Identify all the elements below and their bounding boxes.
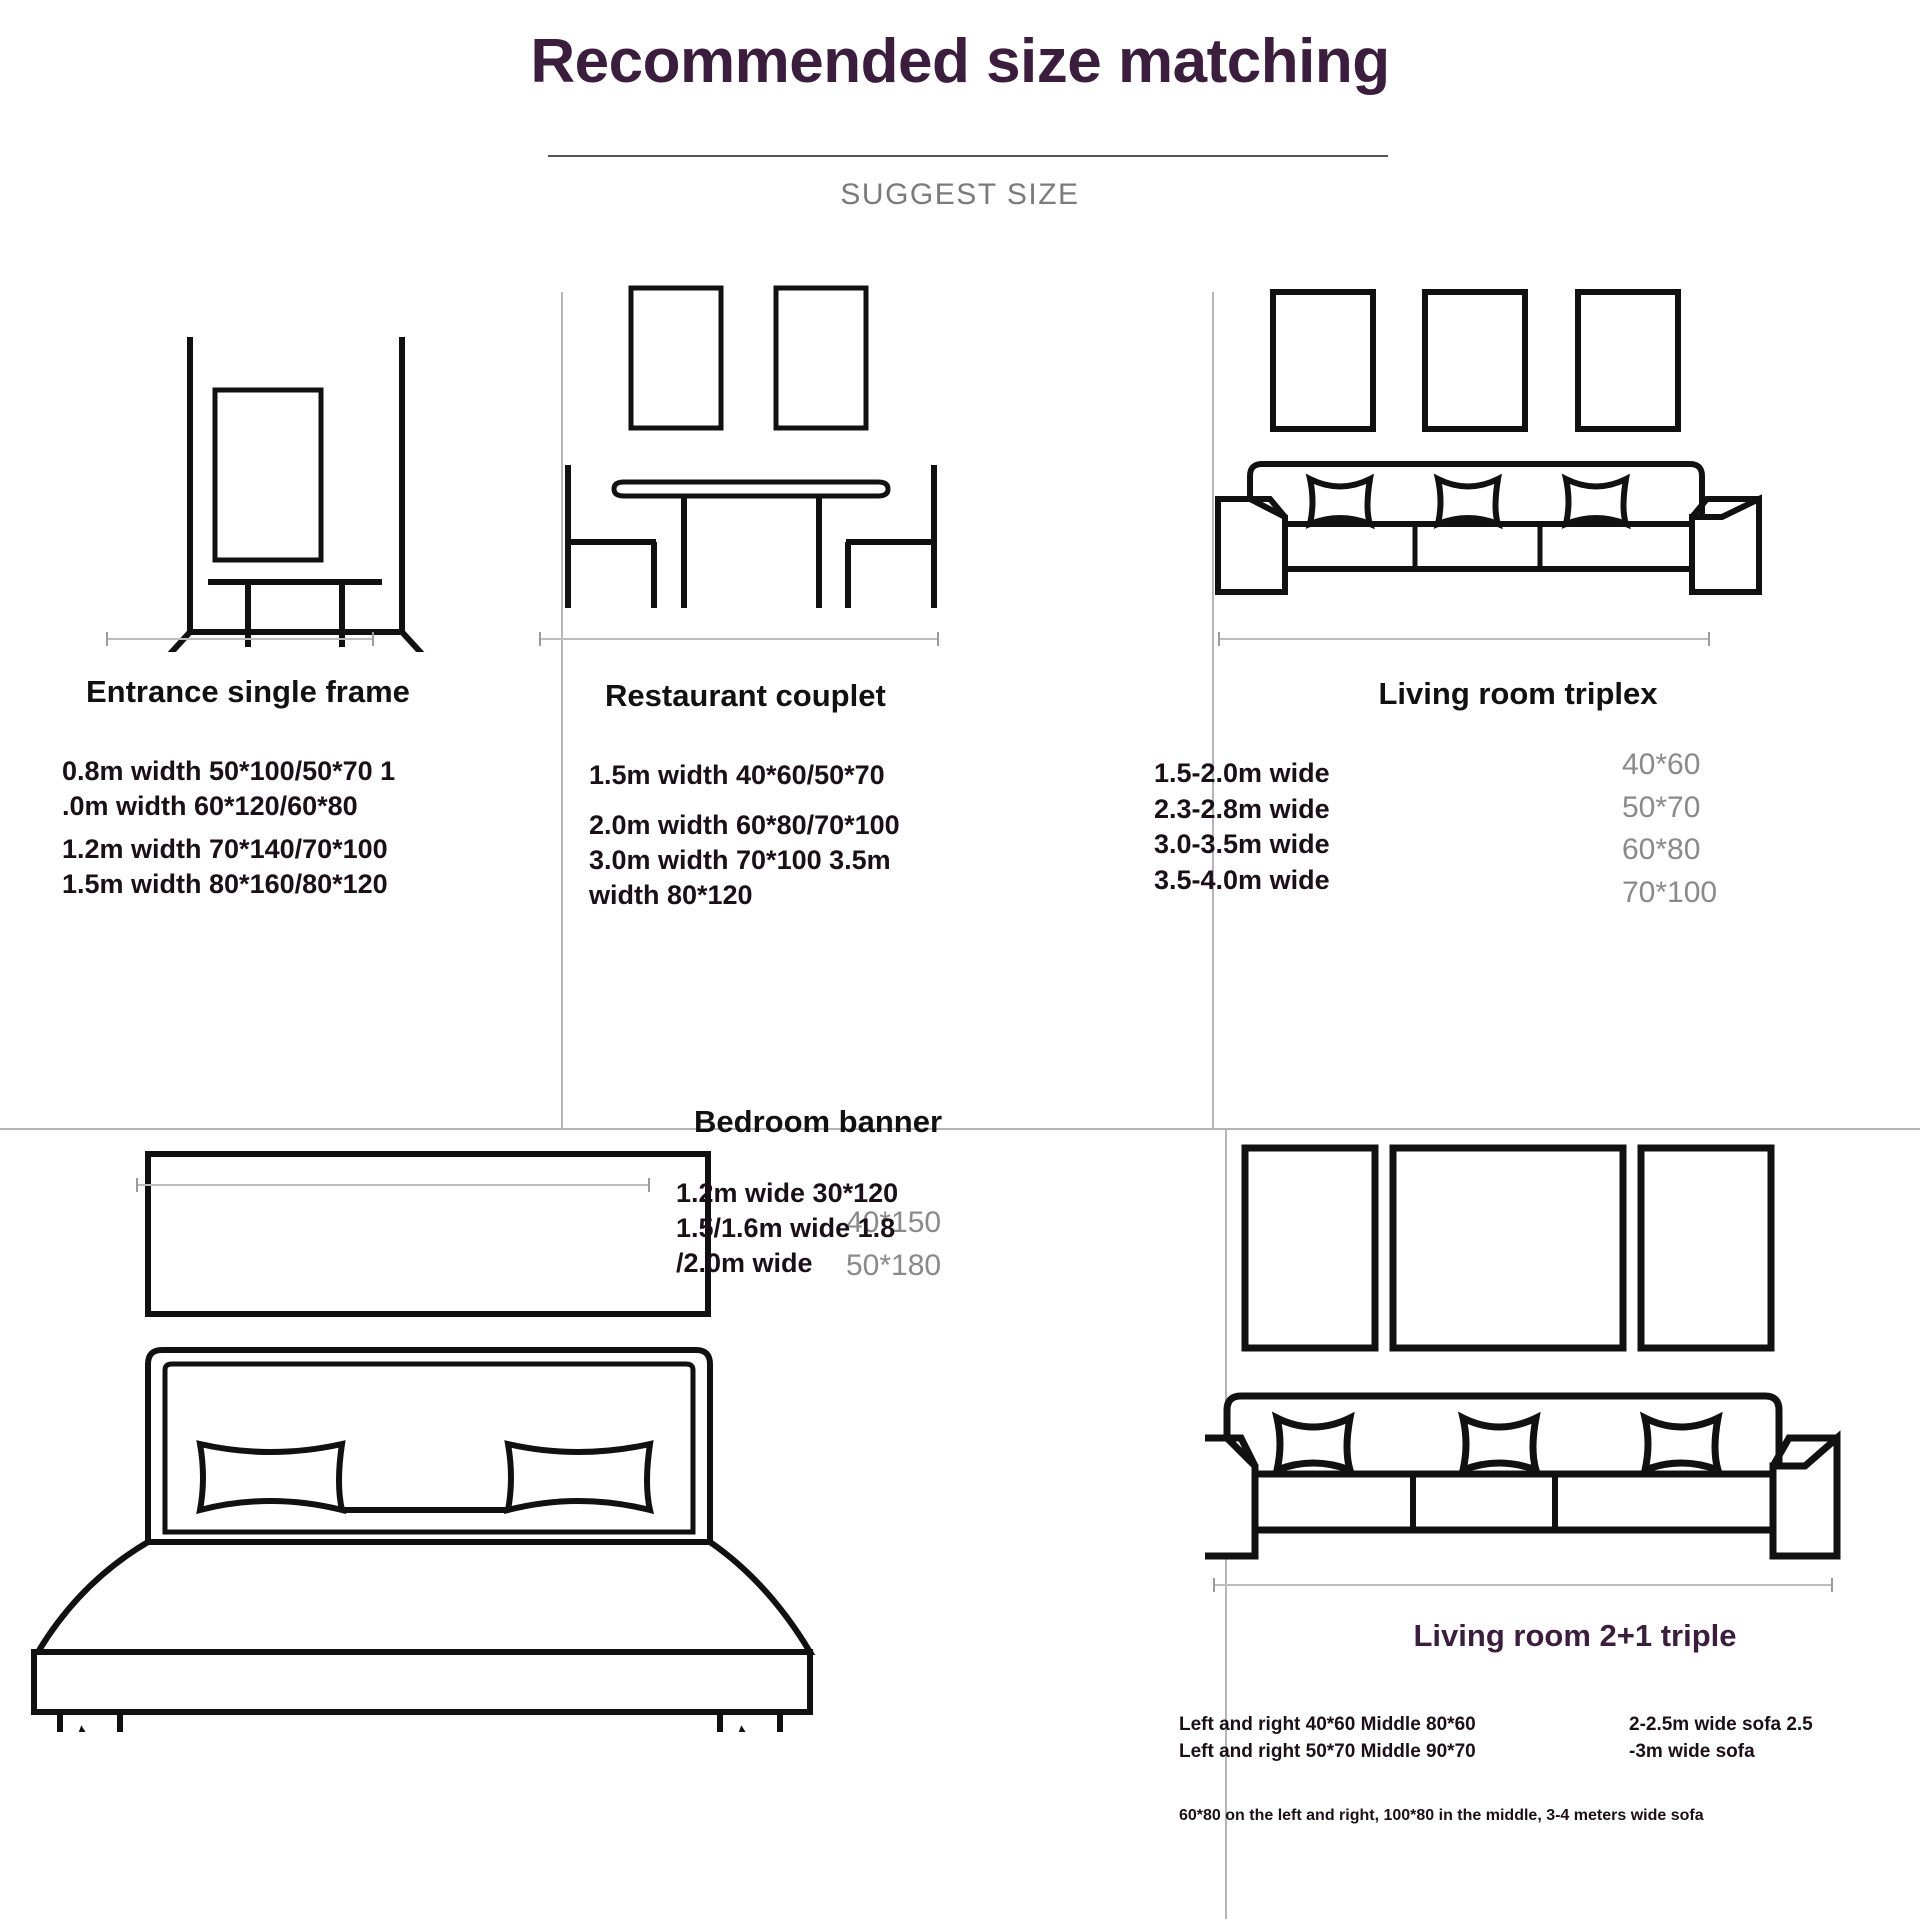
header: Recommended size matching SUGGEST SIZE [0,0,1920,238]
panel-title-entrance-single-frame: Entrance single frame [86,674,410,710]
restaurant-specs-primary: 1.5m width 40*60/50*70 [589,758,1149,793]
sofa-three-frames-illustration [1210,274,1890,644]
living-room-2plus1-specs-secondary: 2-2.5m wide sofa 2.5 -3m wide sofa [1629,1712,1920,1766]
restaurant-width-dimension-ruler [539,632,939,646]
panel-living-room-2plus1-triple: Living room 2+1 triple Left and right 40… [1225,1130,1920,1919]
page-subtitle: SUGGEST SIZE [0,178,1920,212]
living-room-2plus1-width-dimension-ruler [1213,1578,1833,1592]
bedroom-banner-width-dimension-ruler [136,1178,650,1192]
bedroom-banner-specs-primary: 1.2m wide 30*120 1.5/1.6m wide 1.8 /2.0m… [676,1176,1096,1281]
living-room-triplex-specs-primary: 1.5-2.0m wide 2.3-2.8m wide 3.0-3.5m wid… [1154,756,1484,899]
dining-table-two-frames-illustration [536,270,996,630]
entrance-specs-primary: 0.8m width 50*100/50*70 1 .0m width 60*1… [62,754,492,824]
page-title: Recommended size matching [0,28,1920,96]
living-room-2plus1-specs-note: 60*80 on the left and right, 100*80 in t… [1179,1806,1859,1827]
panel-living-room-triplex: Living room triplex 1.5-2.0m wide 2.3-2.… [1212,292,1920,1128]
title-divider-rule [548,155,1388,157]
panel-title-living-room-triplex: Living room triplex [1168,676,1868,712]
panel-entrance-single-frame: Entrance single frame 0.8m width 50*100/… [0,292,561,1128]
living-room-triplex-width-dimension-ruler [1218,632,1710,646]
panel-restaurant-couplet: Restaurant couplet 1.5m width 40*60/50*7… [561,292,1212,1128]
entrance-width-dimension-ruler [106,632,374,646]
living-room-triplex-specs-gray: 40*60 50*70 60*80 70*100 [1622,744,1872,914]
panel-bedroom-banner: Bedroom banner 40*150 50*180 1.2m wide 3… [0,1130,1225,1919]
infographic-page: Recommended size matching SUGGEST SIZE [0,0,1920,1919]
panel-title-restaurant-couplet: Restaurant couplet [605,678,886,714]
entrance-specs-secondary: 1.2m width 70*140/70*100 1.5m width 80*1… [62,832,492,902]
entrance-frame-console-illustration [90,292,480,652]
panel-title-bedroom-banner: Bedroom banner [694,1104,942,1140]
panel-title-living-room-2plus1-triple: Living room 2+1 triple [1145,1618,1920,1654]
restaurant-specs-secondary: 2.0m width 60*80/70*100 3.0m width 70*10… [589,808,1059,913]
